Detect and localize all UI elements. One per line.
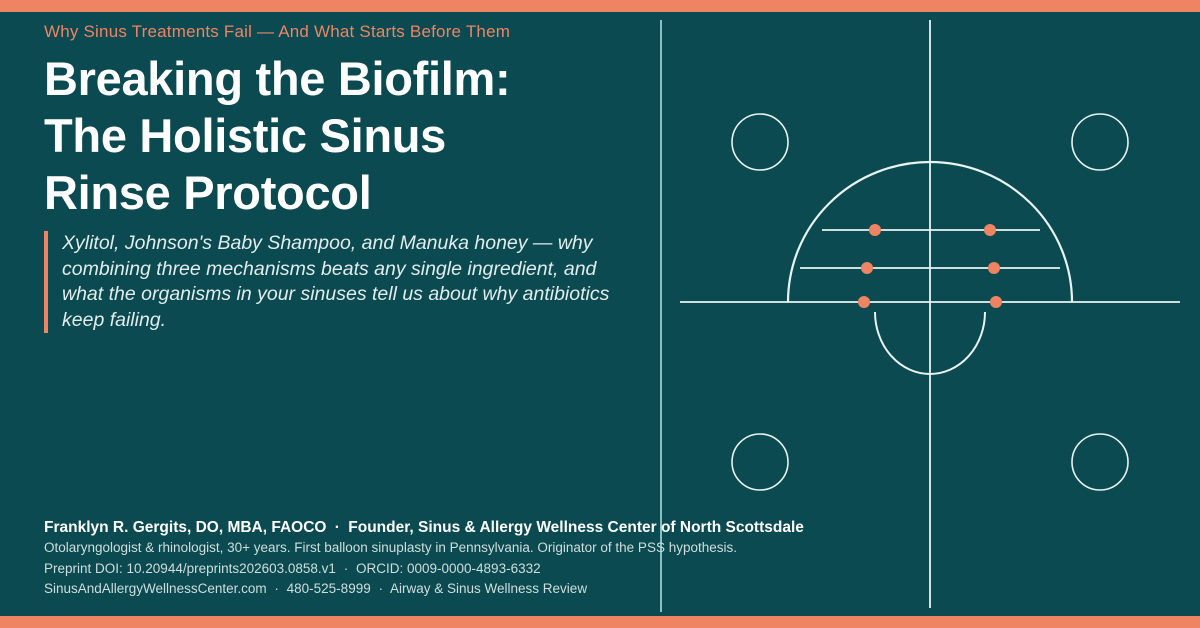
sinus-diagram [660,12,1200,616]
author-name: Franklyn R. Gergits, DO, MBA, FAOCO [44,519,326,536]
doi-separator: · [340,561,353,576]
circle-bottom-left [732,434,788,490]
circle-bottom-right [1072,434,1128,490]
dot-bottom-left [858,296,870,308]
dot-top-left [869,224,881,236]
top-accent-stripe [0,0,1200,12]
dot-middle-right [988,262,1000,274]
page-title-line-3: Rinse Protocol [44,164,634,221]
page-title-line-2: The Holistic Sinus [44,107,634,164]
eyebrow-text: Why Sinus Treatments Fail — And What Sta… [44,22,510,42]
circle-top-left [732,114,788,170]
subtitle-block: Xylitol, Johnson's Baby Shampoo, and Man… [44,231,634,333]
website-url: SinusAndAllergyWellnessCenter.com [44,581,267,596]
publication-name: Airway & Sinus Wellness Review [390,581,587,596]
preprint-doi: Preprint DOI: 10.20944/preprints202603.0… [44,561,336,576]
website-separator: · [270,581,283,596]
phone-number: 480-525-8999 [287,581,371,596]
bottom-accent-stripe [0,616,1200,628]
page-title: Breaking the Biofilm: The Holistic Sinus… [44,50,634,221]
circle-top-right [1072,114,1128,170]
dot-middle-left [861,262,873,274]
dot-bottom-right [990,296,1002,308]
sinus-anatomy-icon [660,12,1200,616]
social-card: Why Sinus Treatments Fail — And What Sta… [0,0,1200,628]
author-separator: · [331,519,344,536]
orcid-id: ORCID: 0009-0000-4893-6332 [356,561,541,576]
subtitle-text: Xylitol, Johnson's Baby Shampoo, and Man… [62,231,634,333]
dot-top-right [984,224,996,236]
phone-separator: · [374,581,387,596]
page-title-line-1: Breaking the Biofilm: [44,50,634,107]
